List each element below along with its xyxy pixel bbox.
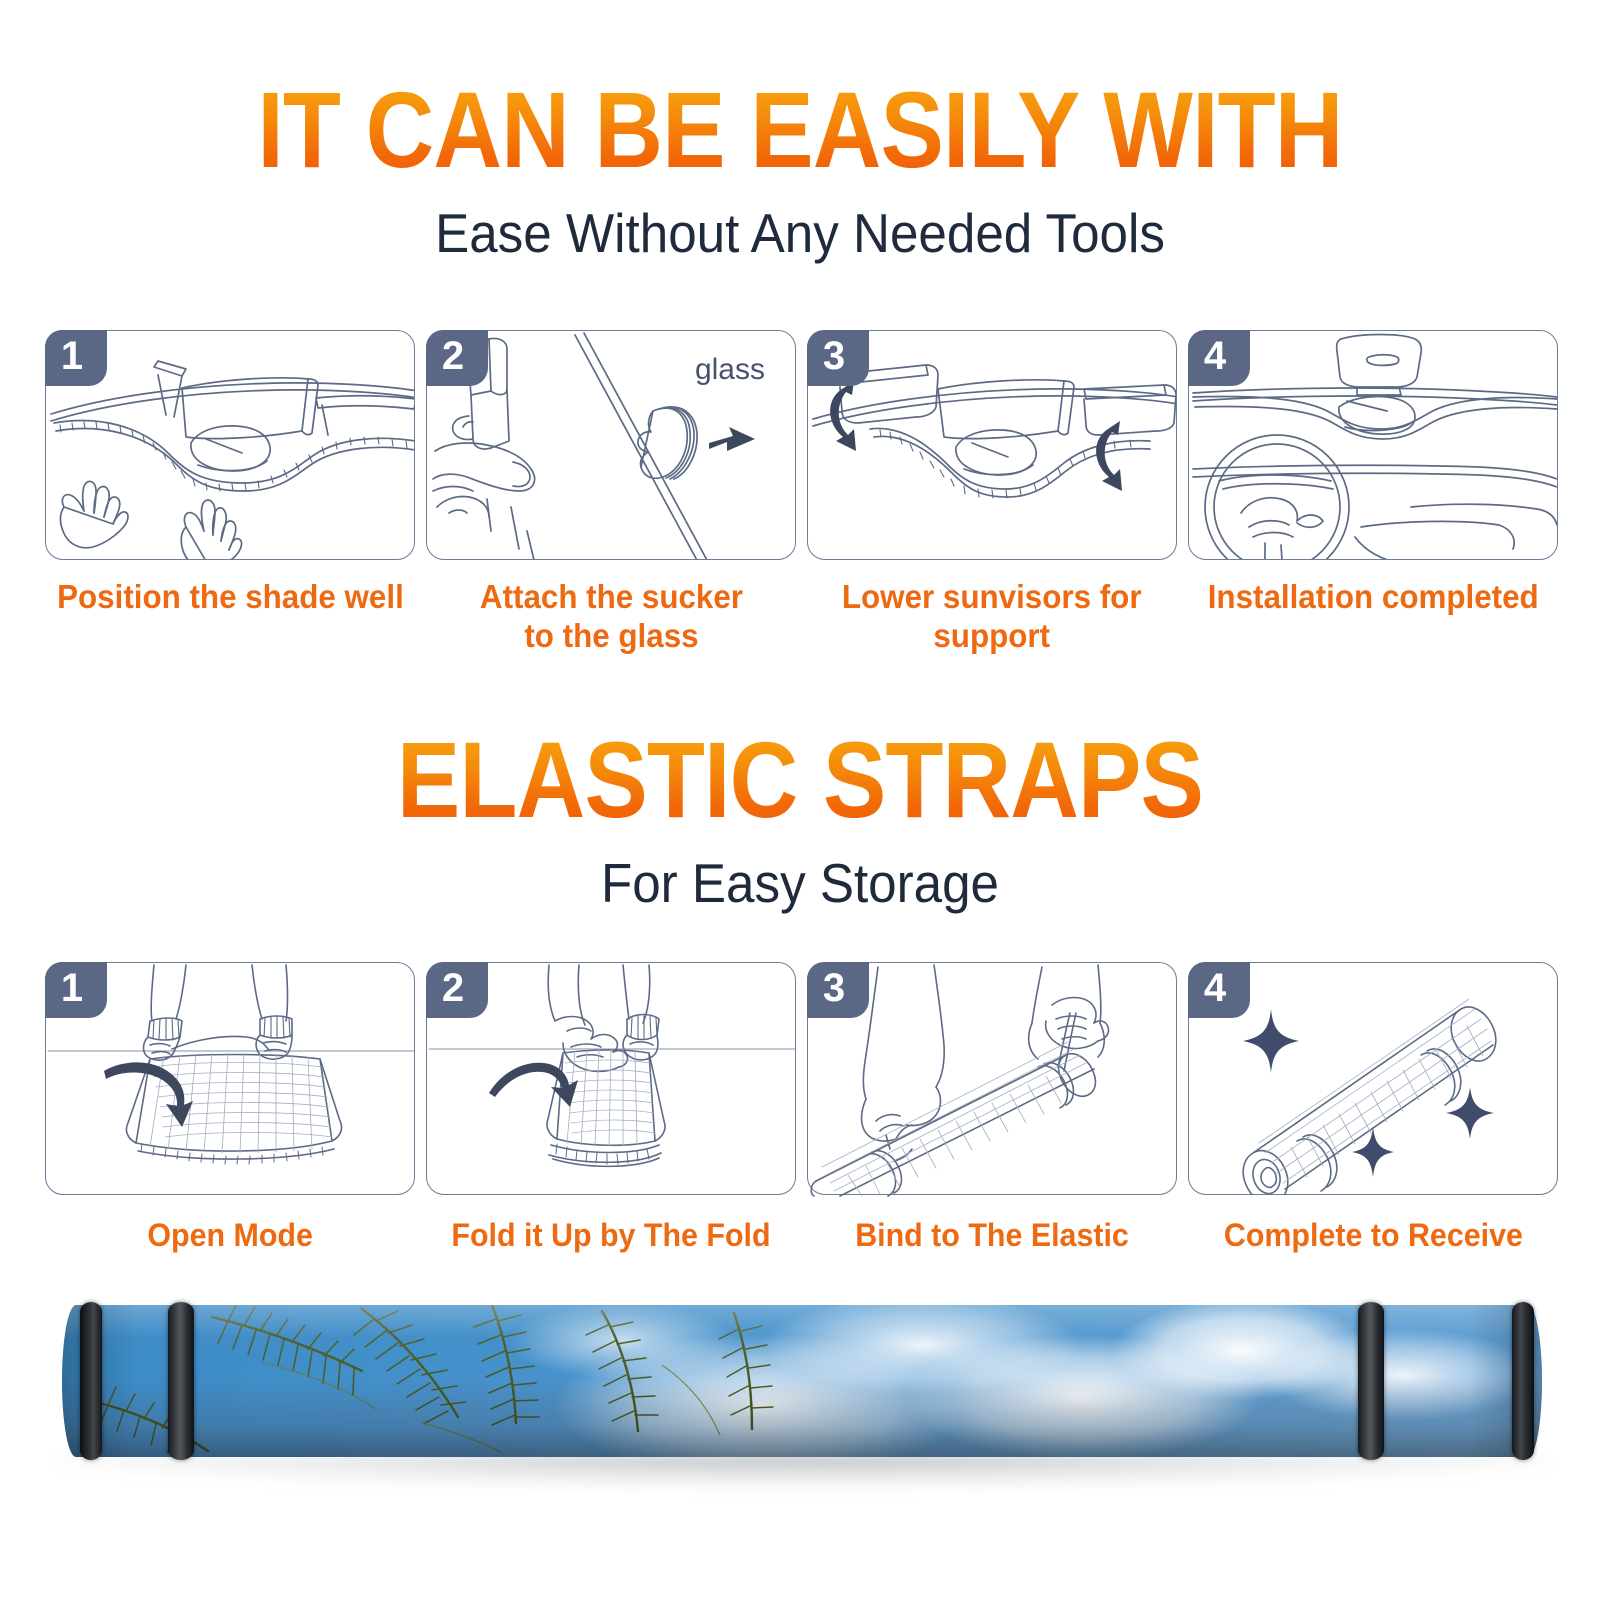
roll-end-cap-left bbox=[80, 1302, 102, 1460]
step-illustration-1: 1 bbox=[45, 330, 415, 560]
storage-step-card-1: 1 bbox=[45, 962, 415, 1255]
step-caption: Open Mode bbox=[147, 1217, 313, 1255]
storage-illustration-1: 1 bbox=[45, 962, 415, 1195]
storage-illustration-3: 3 bbox=[807, 962, 1177, 1195]
storage-step-card-4: 4 bbox=[1188, 962, 1558, 1255]
step-caption: Complete to Receive bbox=[1223, 1217, 1522, 1255]
step-caption: Position the shade well bbox=[57, 578, 404, 617]
step-number-badge: 1 bbox=[45, 962, 107, 1018]
step-number-badge: 4 bbox=[1188, 330, 1250, 386]
step-illustration-3: 3 bbox=[807, 330, 1177, 560]
step-card-2: 2 glass bbox=[426, 330, 796, 656]
section-heading-installation: IT CAN BE EASILY WITH Ease Without Any N… bbox=[0, 75, 1600, 265]
subhead-installation: Ease Without Any Needed Tools bbox=[56, 201, 1544, 265]
roll-end-cap-right bbox=[1512, 1302, 1534, 1460]
step-caption: Lower sunvisors for support bbox=[842, 578, 1142, 656]
cylinder-edge-shading bbox=[62, 1305, 1542, 1457]
step-number-badge: 2 bbox=[426, 330, 488, 386]
storage-steps-row: 1 bbox=[45, 962, 1555, 1255]
step-caption: Installation completed bbox=[1208, 578, 1539, 617]
step-card-3: 3 bbox=[807, 330, 1177, 656]
step-number-badge: 4 bbox=[1188, 962, 1250, 1018]
step-number-badge: 3 bbox=[807, 330, 869, 386]
step-number-badge: 3 bbox=[807, 962, 869, 1018]
storage-illustration-4: 4 bbox=[1188, 962, 1558, 1195]
step-illustration-2: 2 glass bbox=[426, 330, 796, 560]
headline-installation: IT CAN BE EASILY WITH bbox=[96, 75, 1504, 185]
product-photo-rolled-shade bbox=[40, 1305, 1560, 1480]
rolled-shade-body bbox=[62, 1305, 1542, 1457]
storage-step-card-2: 2 bbox=[426, 962, 796, 1255]
headline-straps: ELASTIC STRAPS bbox=[96, 725, 1504, 835]
glass-annotation-label: glass bbox=[695, 353, 765, 387]
step-caption: Bind to The Elastic bbox=[855, 1217, 1129, 1255]
product-drop-shadow bbox=[58, 1455, 1548, 1489]
sparkle-icon bbox=[1243, 1009, 1494, 1177]
step-caption: Fold it Up by The Fold bbox=[451, 1217, 770, 1255]
step-card-4: 4 bbox=[1188, 330, 1558, 656]
step-illustration-4: 4 bbox=[1188, 330, 1558, 560]
subhead-straps: For Easy Storage bbox=[56, 851, 1544, 915]
storage-step-card-3: 3 bbox=[807, 962, 1177, 1255]
storage-illustration-2: 2 bbox=[426, 962, 796, 1195]
step-card-1: 1 bbox=[45, 330, 415, 656]
step-caption: Attach the sucker to the glass bbox=[479, 578, 742, 656]
elastic-strap-right bbox=[1358, 1302, 1384, 1460]
elastic-strap-left bbox=[168, 1302, 194, 1460]
installation-steps-row: 1 bbox=[45, 330, 1555, 656]
section-heading-straps: ELASTIC STRAPS For Easy Storage bbox=[0, 725, 1600, 915]
step-number-badge: 1 bbox=[45, 330, 107, 386]
step-number-badge: 2 bbox=[426, 962, 488, 1018]
